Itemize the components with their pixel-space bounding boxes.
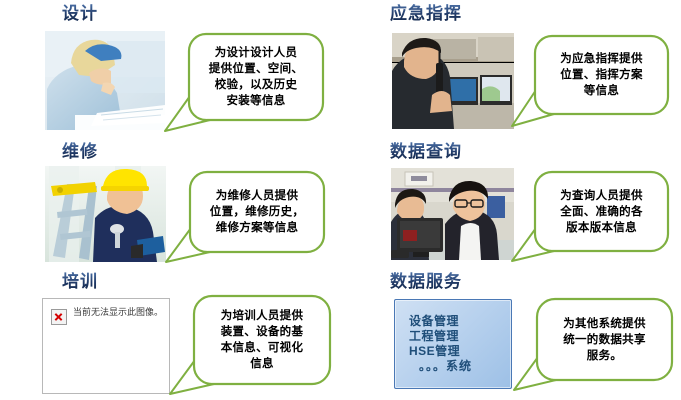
photo-maintenance <box>45 166 166 262</box>
callout-line: 位置，维修历史， <box>210 204 304 220</box>
callout-line: 本信息、可视化 <box>221 340 304 356</box>
broken-image-text: 当前无法显示此图像。 <box>73 308 163 319</box>
panel-title-emergency-command: 应急指挥 <box>256 4 596 24</box>
box-line-engineering: 工程管理 <box>409 329 511 344</box>
callout-maintenance: 为维修人员提供 位置，维修历史， 维修方案等信息 <box>164 170 326 265</box>
slide-canvas: 设计 <box>0 0 681 400</box>
panel-title-maintenance: 维修 <box>0 142 250 162</box>
box-line-equipment: 设备管理 <box>409 314 511 329</box>
callout-text-emergency-command: 为应急指挥提供 位置、指挥方案 等信息 <box>537 38 666 112</box>
callout-text-data-service: 为其他系统提供 统一的数据共享 服务。 <box>539 301 670 378</box>
callout-line: 等信息 <box>584 83 619 99</box>
callout-line: 为其他系统提供 <box>563 316 646 332</box>
callout-line: 版本版本信息 <box>566 220 637 236</box>
broken-image-icon <box>51 309 67 325</box>
two-women-office-computers-photo <box>391 168 514 260</box>
callout-line: 维修方案等信息 <box>216 220 299 236</box>
callout-design: 为设计设计人员 提供位置、空间、 校验，以及历史 安装等信息 <box>163 32 326 134</box>
woman-engineer-blueprint-photo <box>45 31 165 130</box>
callout-line: 校验，以及历史 <box>215 77 298 93</box>
callout-text-data-query: 为查询人员提供 全面、准确的各 版本版本信息 <box>537 174 666 249</box>
callout-line: 信息 <box>250 356 274 372</box>
panel-title-design: 设计 <box>0 4 250 24</box>
callout-line: 装置、设备的基 <box>221 324 304 340</box>
worker-hardhat-ladder-photo <box>45 166 166 262</box>
panel-title-data-query: 数据查询 <box>256 142 596 162</box>
callout-emergency-command: 为应急指挥提供 位置、指挥方案 等信息 <box>510 34 670 129</box>
callout-line: 位置、指挥方案 <box>560 67 643 83</box>
callout-line: 为应急指挥提供 <box>560 51 643 67</box>
panel-emergency-command: 应急指挥 <box>341 2 681 138</box>
data-service-box: 设备管理 工程管理 HSE管理 。。。系统 <box>394 299 512 389</box>
callout-line: 服务。 <box>587 348 622 364</box>
panel-data-service: 数据服务 设备管理 工程管理 HSE管理 。。。系统 为其他系统提供 统一的数据… <box>341 268 681 400</box>
callout-data-query: 为查询人员提供 全面、准确的各 版本版本信息 <box>510 170 670 264</box>
callout-line: 全面、准确的各 <box>560 204 643 220</box>
callout-line: 提供位置、空间、 <box>209 61 303 77</box>
man-walkie-talkie-monitors-photo <box>392 33 514 129</box>
callout-data-service: 为其他系统提供 统一的数据共享 服务。 <box>512 297 674 393</box>
box-line-other-systems: 。。。系统 <box>409 359 511 374</box>
photo-emergency-command <box>392 33 514 129</box>
callout-line: 为培训人员提供 <box>221 308 304 324</box>
panel-data-query: 数据查询 <box>341 142 681 270</box>
callout-line: 为查询人员提供 <box>560 188 643 204</box>
callout-line: 为设计设计人员 <box>215 45 298 61</box>
photo-design <box>45 31 165 130</box>
panel-title-training: 培训 <box>0 272 250 292</box>
callout-line: 为维修人员提供 <box>216 188 299 204</box>
callout-training: 为培训人员提供 装置、设备的基 本信息、可视化 信息 <box>168 294 332 398</box>
callout-text-training: 为培训人员提供 装置、设备的基 本信息、可视化 信息 <box>196 298 328 382</box>
box-line-hse: HSE管理 <box>409 344 511 359</box>
callout-text-maintenance: 为维修人员提供 位置，维修历史， 维修方案等信息 <box>192 174 322 250</box>
broken-image-placeholder-training: 当前无法显示此图像。 <box>42 298 170 394</box>
photo-data-query <box>391 168 514 260</box>
callout-text-design: 为设计设计人员 提供位置、空间、 校验，以及历史 安装等信息 <box>191 36 321 118</box>
callout-line: 统一的数据共享 <box>563 332 646 348</box>
callout-line: 安装等信息 <box>227 93 286 109</box>
panel-title-data-service: 数据服务 <box>256 272 596 292</box>
